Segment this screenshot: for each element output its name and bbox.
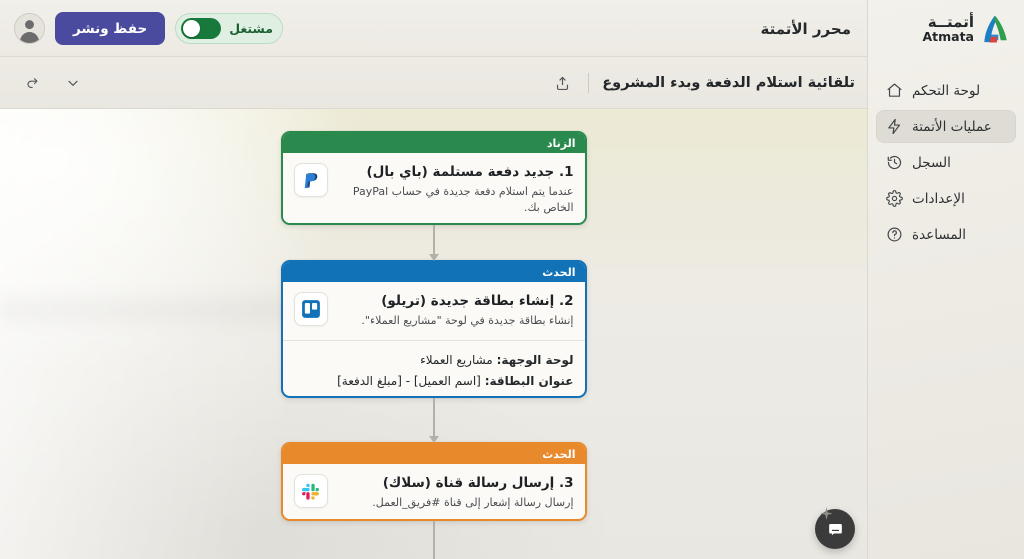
slack-icon: [294, 474, 328, 508]
flow-name: تلقائية استلام الدفعة وبدء المشروع: [602, 75, 855, 91]
node-body: 2. إنشاء بطاقة جديدة (تريلو) إنشاء بطاقة…: [283, 282, 585, 340]
sidebar-item-help[interactable]: المساعدة: [876, 218, 1016, 251]
avatar[interactable]: [14, 13, 45, 44]
top-header: محرر الأتمتة حفظ ونشر مشتغل: [0, 0, 867, 57]
detail-row: عنوان البطاقة: [اسم العميل] - [مبلغ الدف…: [294, 371, 574, 392]
node-kind-badge: الزناد: [283, 133, 585, 153]
detail-label: لوحة الوجهة:: [497, 353, 574, 367]
user-avatar-icon: [15, 14, 44, 43]
share-upload-icon[interactable]: [549, 70, 575, 96]
paypal-icon: [294, 163, 328, 197]
ai-chat-assistant-icon: [826, 520, 845, 539]
node-body: 1. جديد دفعة مستلمة (باي بال) عندما يتم …: [283, 153, 585, 225]
node-title: 3. إرسال رسالة قناة (سلاك): [338, 474, 574, 492]
brand-logo[interactable]: أتمتــة Atmata: [868, 0, 1024, 57]
sidebar-item-history[interactable]: السجل: [876, 146, 1016, 179]
sidebar-item-automations[interactable]: عمليات الأتمتة: [876, 110, 1016, 143]
node-kind-badge: الحدث: [283, 262, 585, 282]
detail-label: عنوان البطاقة:: [485, 374, 574, 388]
node-text: 3. إرسال رسالة قناة (سلاك) إرسال رسالة إ…: [338, 474, 574, 511]
detail-row: لوحة الوجهة: مشاريع العملاء: [294, 350, 574, 371]
page-title: محرر الأتمتة: [760, 20, 851, 38]
node-title: 2. إنشاء بطاقة جديدة (تريلو): [338, 292, 574, 310]
lightning-bolt-icon: [886, 118, 903, 135]
node-connector-tail: [433, 521, 435, 559]
node-kind-badge: الحدث: [283, 444, 585, 464]
node-body: 3. إرسال رسالة قناة (سلاك) إرسال رسالة إ…: [283, 464, 585, 521]
node-text: 2. إنشاء بطاقة جديدة (تريلو) إنشاء بطاقة…: [338, 292, 574, 329]
chevron-down-icon[interactable]: [60, 70, 86, 96]
save-publish-button[interactable]: حفظ ونشر: [55, 12, 165, 45]
node-connector: [433, 225, 435, 260]
ai-chat-assistant-button[interactable]: [815, 509, 855, 549]
flow-toolbar-right: تلقائية استلام الدفعة وبدء المشروع: [549, 70, 855, 96]
help-circle-icon: [886, 226, 903, 243]
node-text: 1. جديد دفعة مستلمة (باي بال) عندما يتم …: [338, 163, 574, 216]
flow-toolbar-left: [20, 70, 86, 96]
toggle-switch-knob: [183, 20, 200, 37]
sidebar-item-label: لوحة التحكم: [912, 83, 980, 99]
brand-name-arabic: أتمتــة: [922, 15, 974, 30]
workflow-node-action-slack[interactable]: الحدث 3. إرسال رسالة قناة (سلاك) إرسال ر…: [281, 442, 587, 521]
flow-toolbar: تلقائية استلام الدفعة وبدء المشروع: [0, 57, 867, 109]
detail-value: [اسم العميل] - [مبلغ الدفعة]: [337, 374, 481, 388]
node-details: لوحة الوجهة: مشاريع العملاء عنوان البطاق…: [283, 340, 585, 398]
sidebar-item-dashboard[interactable]: لوحة التحكم: [876, 74, 1016, 107]
workflow-node-trigger-paypal[interactable]: الزناد 1. جديد دفعة مستلمة (باي بال) عند…: [281, 131, 587, 225]
toggle-label: مشتغل: [229, 21, 273, 36]
detail-value: مشاريع العملاء: [420, 353, 493, 367]
node-description: إرسال رسالة إشعار إلى قناة #فريق_العمل.: [338, 495, 574, 511]
node-description: إنشاء بطاقة جديدة في لوحة "مشاريع العملا…: [338, 313, 574, 329]
sidebar-nav: لوحة التحكم عمليات الأتمتة السجل: [868, 74, 1024, 251]
atmata-a-logo-icon: [982, 14, 1010, 44]
home-icon: [886, 82, 903, 99]
sidebar-item-settings[interactable]: الإعدادات: [876, 182, 1016, 215]
workflow-nodes: الزناد 1. جديد دفعة مستلمة (باي بال) عند…: [0, 109, 867, 559]
main-area: محرر الأتمتة حفظ ونشر مشتغل: [0, 0, 867, 559]
toolbar-divider: [588, 73, 589, 93]
automation-enabled-toggle[interactable]: مشتغل: [175, 13, 283, 44]
trello-icon: [294, 292, 328, 326]
history-clock-icon: [886, 154, 903, 171]
brand-name-english: Atmata: [922, 31, 974, 44]
app-root: أتمتــة Atmata لوحة التحكم عم: [0, 0, 1024, 559]
node-description: عندما يتم استلام دفعة جديدة في حساب PayP…: [338, 184, 574, 216]
sidebar-item-label: السجل: [912, 155, 951, 171]
sidebar-item-label: عمليات الأتمتة: [912, 119, 992, 135]
gear-icon: [886, 190, 903, 207]
workflow-canvas[interactable]: الزناد 1. جديد دفعة مستلمة (باي بال) عند…: [0, 109, 867, 559]
sidebar: أتمتــة Atmata لوحة التحكم عم: [867, 0, 1024, 559]
sidebar-item-label: الإعدادات: [912, 191, 965, 207]
sidebar-item-label: المساعدة: [912, 227, 966, 243]
header-actions: حفظ ونشر مشتغل: [14, 12, 283, 45]
brand-text: أتمتــة Atmata: [922, 14, 974, 44]
toggle-switch-track[interactable]: [181, 18, 221, 39]
redo-arrow-icon[interactable]: [20, 70, 46, 96]
node-connector: [433, 398, 435, 442]
node-title: 1. جديد دفعة مستلمة (باي بال): [338, 163, 574, 181]
workflow-node-action-trello[interactable]: الحدث 2. إنشاء بطاقة جديدة (تريلو) إنشاء…: [281, 260, 587, 398]
